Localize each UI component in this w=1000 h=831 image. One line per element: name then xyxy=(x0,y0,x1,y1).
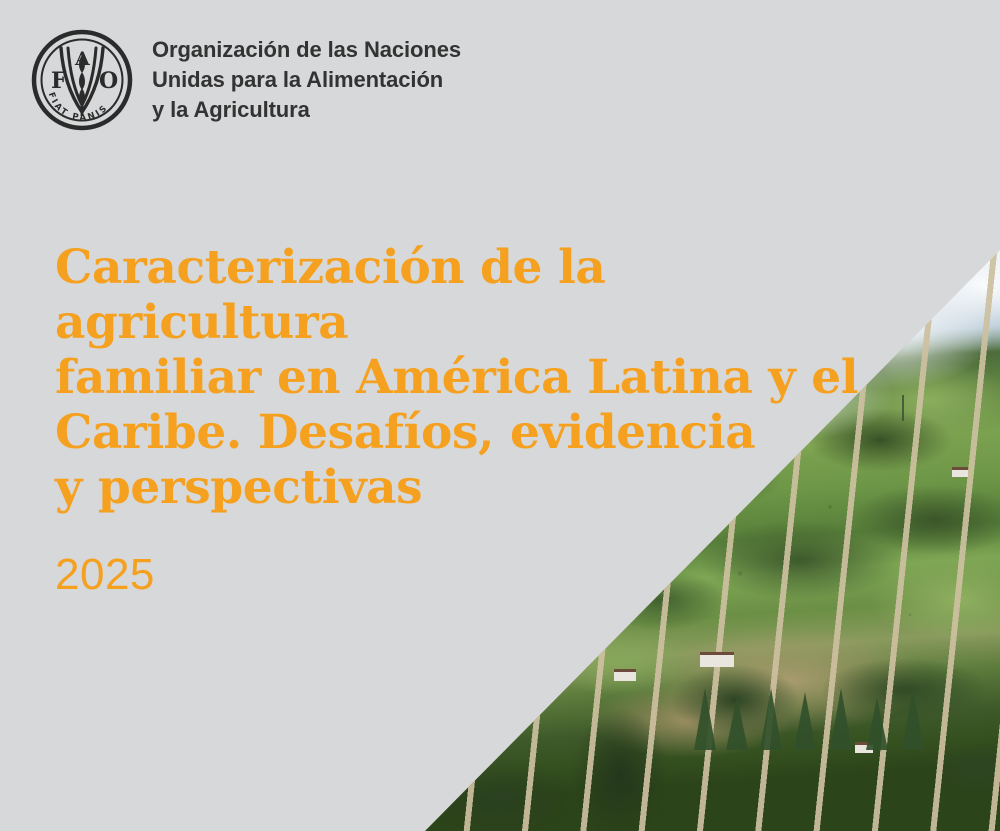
publication-cover: F A O FIAT PANIS Organización de las Nac… xyxy=(0,0,1000,831)
fao-logo-icon: F A O FIAT PANIS xyxy=(30,28,134,132)
farmhouse-1 xyxy=(952,470,968,477)
page-title: Caracterización de la agricultura famili… xyxy=(55,240,875,515)
conifer-row xyxy=(690,640,950,750)
svg-text:O: O xyxy=(99,68,118,94)
svg-text:F: F xyxy=(51,68,67,94)
farmhouse-3 xyxy=(614,672,636,681)
organization-name: Organización de las Naciones Unidas para… xyxy=(152,28,461,125)
title-block: Caracterización de la agricultura famili… xyxy=(55,240,875,597)
fao-header: F A O FIAT PANIS Organización de las Nac… xyxy=(30,28,461,132)
publication-year: 2025 xyxy=(55,515,875,597)
svg-text:A: A xyxy=(74,48,90,70)
ridge-antenna-icon xyxy=(902,395,904,421)
